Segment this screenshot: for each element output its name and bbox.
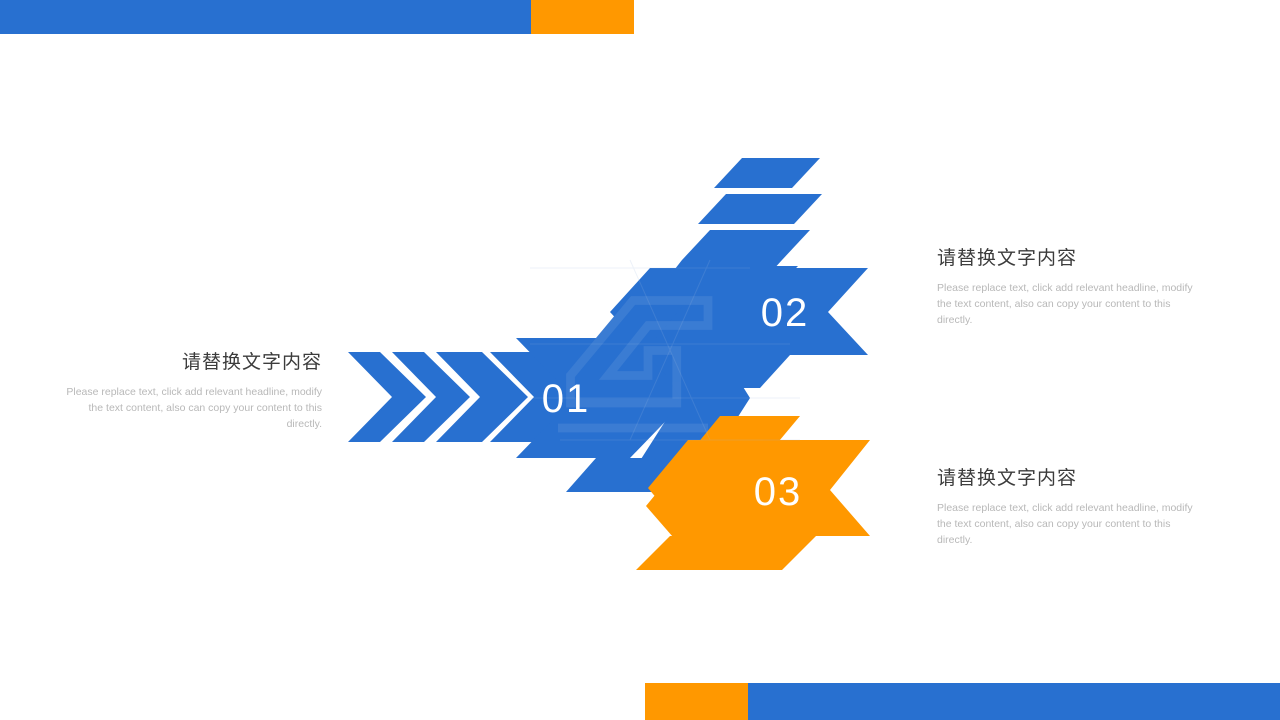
step-03-tail xyxy=(636,536,816,570)
step-03-text-block: 请替换文字内容 Please replace text, click add r… xyxy=(937,468,1197,549)
step-03-headline: 请替换文字内容 xyxy=(937,468,1197,491)
bottom-bar-blue xyxy=(748,683,1280,720)
bottom-bar-orange xyxy=(645,683,748,720)
step-02-headline: 请替换文字内容 xyxy=(937,248,1197,271)
step-03-number: 03 xyxy=(754,470,803,514)
step-03-body: Please replace text, click add relevant … xyxy=(937,500,1197,549)
top-bar-blue xyxy=(0,0,531,34)
step-01-chevrons xyxy=(348,352,528,442)
step-02-body: Please replace text, click add relevant … xyxy=(937,280,1197,329)
top-bar-orange xyxy=(531,0,634,34)
step-02-number: 02 xyxy=(761,291,810,335)
step-01-text-block: 请替换文字内容 Please replace text, click add r… xyxy=(60,352,322,433)
step-01-body: Please replace text, click add relevant … xyxy=(60,384,322,433)
slide-canvas: 01 02 03 请替换文字内容 Please replace text, cl… xyxy=(0,0,1280,720)
process-arrow-diagram: 01 02 03 xyxy=(330,140,910,590)
step-01-number: 01 xyxy=(542,377,591,421)
step-02-text-block: 请替换文字内容 Please replace text, click add r… xyxy=(937,248,1197,329)
step-01-headline: 请替换文字内容 xyxy=(60,352,322,375)
